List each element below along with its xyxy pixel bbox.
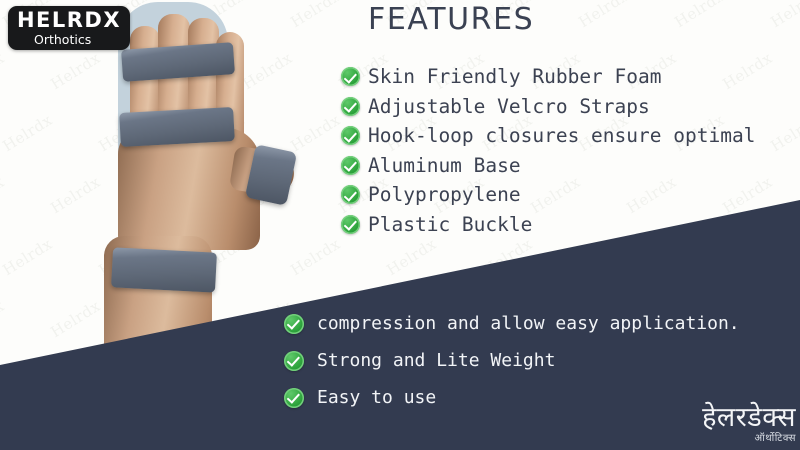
feature-label: Hook-loop closures ensure optimal bbox=[368, 124, 755, 147]
benefit-label: Strong and Lite Weight bbox=[317, 350, 555, 371]
watermark-text: Helrdx bbox=[671, 0, 727, 31]
benefit-label: compression and allow easy application. bbox=[317, 313, 740, 334]
brand-logo-badge: HELRDX Orthotics bbox=[8, 6, 130, 50]
feature-item: Skin Friendly Rubber Foam bbox=[341, 62, 755, 92]
green-check-circle-icon bbox=[341, 67, 360, 86]
features-list: Skin Friendly Rubber FoamAdjustable Velc… bbox=[341, 62, 755, 239]
feature-label: Plastic Buckle bbox=[368, 213, 532, 236]
feature-label: Polypropylene bbox=[368, 183, 521, 206]
green-check-circle-icon bbox=[284, 351, 304, 371]
green-check-circle-icon bbox=[341, 156, 360, 175]
finger-strap-lower bbox=[119, 107, 235, 147]
logo-subtitle: Orthotics bbox=[34, 34, 91, 47]
hindi-brand-name: हेलरडेक्स bbox=[702, 404, 796, 431]
watermark-text: Helrdx bbox=[767, 0, 800, 31]
feature-label: Skin Friendly Rubber Foam bbox=[368, 65, 662, 88]
hindi-brand-subtitle: ऑर्थोटिक्स bbox=[702, 434, 796, 444]
watermark-text: Helrdx bbox=[575, 0, 631, 31]
watermark-text: Helrdx bbox=[383, 235, 439, 279]
feature-item: Plastic Buckle bbox=[341, 210, 755, 240]
logo-wordmark: HELRDX bbox=[17, 10, 121, 31]
benefit-item: Easy to use bbox=[284, 379, 740, 416]
feature-item: Hook-loop closures ensure optimal bbox=[341, 121, 755, 151]
benefits-list: compression and allow easy application.S… bbox=[284, 305, 740, 416]
feature-label: Aluminum Base bbox=[368, 154, 521, 177]
product-feature-banner: HelrdxHelrdxHelrdxHelrdxHelrdxHelrdxHelr… bbox=[0, 0, 800, 450]
watermark-text: Helrdx bbox=[767, 111, 800, 155]
green-check-circle-icon bbox=[284, 314, 304, 334]
feature-item: Polypropylene bbox=[341, 180, 755, 210]
wrist-strap bbox=[111, 247, 217, 292]
green-check-circle-icon bbox=[341, 215, 360, 234]
green-check-circle-icon bbox=[341, 185, 360, 204]
benefit-label: Easy to use bbox=[317, 387, 436, 408]
green-check-circle-icon bbox=[284, 388, 304, 408]
feature-label: Adjustable Velcro Straps bbox=[368, 95, 650, 118]
green-check-circle-icon bbox=[341, 97, 360, 116]
hindi-brand-lockup: हेलरडेक्स ऑर्थोटिक्स bbox=[702, 404, 796, 444]
benefit-item: compression and allow easy application. bbox=[284, 305, 740, 342]
green-check-circle-icon bbox=[341, 126, 360, 145]
benefit-item: Strong and Lite Weight bbox=[284, 342, 740, 379]
feature-item: Aluminum Base bbox=[341, 151, 755, 181]
page-title: FEATURES bbox=[368, 2, 534, 37]
feature-item: Adjustable Velcro Straps bbox=[341, 92, 755, 122]
